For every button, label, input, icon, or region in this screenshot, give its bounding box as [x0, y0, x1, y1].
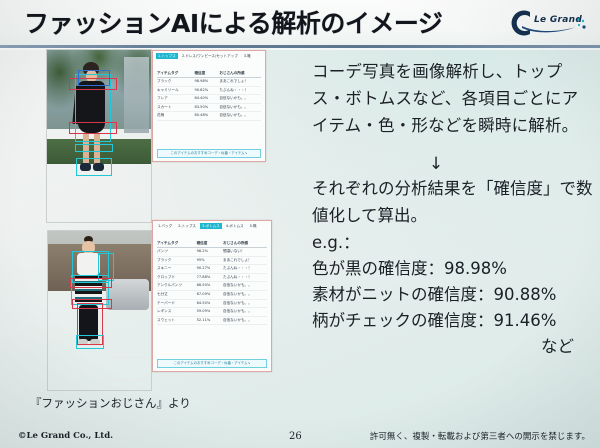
example-line-pattern: 柄がチェックの確信度：91.46% — [312, 308, 598, 334]
col-item-tag: アイテムタグ — [157, 241, 197, 246]
tab-2-dress[interactable]: 2.ドレス/ワンピース/セットアップ — [180, 53, 240, 59]
cell-item-tag: スカート — [157, 104, 194, 112]
panel-top-tabs[interactable]: 1.トップス 2.ドレス/ワンピース/セットアップ 3.靴 — [156, 53, 262, 59]
table-header-row: アイテムタグ 確信度 おじさんの所感 — [157, 241, 267, 248]
explanation-paragraph-2-text: それぞれの分析結果を「確信度」で数値化して算出。 — [312, 175, 594, 229]
table-row: スキニー 90.27% たぶんね・・・！ — [157, 265, 267, 274]
le-grand-logo: Le Grand — [500, 6, 592, 40]
example-line-material: 素材がニットの確信度：90.88% — [312, 282, 598, 308]
down-arrow-icon: ↓ — [278, 153, 594, 175]
cell-item-tag: スウェット — [157, 317, 197, 325]
detection-box-shoes — [76, 335, 104, 349]
panel-bottom-table: アイテムタグ 確信度 おじさんの所感 パンツ 98.2% 間違いない！ ブラック… — [157, 241, 267, 325]
tab-3-shoes[interactable]: 3.靴 — [242, 53, 253, 59]
cell-confidence: 52.11% — [197, 317, 223, 325]
cell-impression: まあこれでしょ！ — [223, 257, 267, 265]
slide-footer: ©Le Grand Co., Ltd. 26 許可無く、複製・転載および第三者へ… — [0, 418, 600, 448]
table-row: レギンス 59.09% 自信ないかも。。 — [157, 308, 267, 317]
cell-impression: 自信ないかも。。 — [219, 112, 261, 120]
table-row: キャミソール 90.82% たぶんね・・・！ — [157, 87, 261, 96]
cell-impression: 自信ないかも。。 — [223, 300, 267, 308]
cell-item-tag: ブラック — [157, 78, 194, 86]
cell-confidence: 98.2% — [197, 248, 223, 256]
col-impression: おじさんの所感 — [223, 241, 267, 246]
tab-2-tops[interactable]: 2.トップス — [176, 223, 198, 229]
example-line-color: 色が黒の確信度：98.98% — [312, 256, 598, 282]
cell-confidence: 98.98% — [194, 78, 219, 86]
cell-item-tag: 七分丈 — [157, 291, 197, 299]
cell-item-tag: クロップド — [157, 274, 197, 282]
table-row: ブラック 95% まあこれでしょ！ — [157, 257, 267, 266]
tab-1-tops[interactable]: 1.トップス — [156, 53, 178, 59]
slide: ファッションAIによる解析のイメージ Le Grand — [0, 0, 600, 448]
panel-bottom-tabs[interactable]: 1.バッグ 2.トップス 3.ボトムス 4.ボトムス 5.靴 — [156, 223, 268, 229]
photo-building — [124, 57, 149, 133]
page-title: ファッションAIによる解析のイメージ — [24, 4, 442, 40]
explanation-paragraph-2: ↓ それぞれの分析結果を「確信度」で数値化して算出。 — [312, 152, 594, 229]
cell-item-tag: レギンス — [157, 308, 197, 316]
tab-3-bottoms[interactable]: 3.ボトムス — [200, 223, 222, 229]
cell-confidence: 90.82% — [194, 87, 219, 95]
col-impression: おじさんの所感 — [219, 71, 261, 76]
col-confidence: 確信度 — [197, 241, 223, 246]
tab-1-bag[interactable]: 1.バッグ — [156, 223, 174, 229]
logo-wordmark: Le Grand — [534, 15, 582, 25]
slide-header: ファッションAIによる解析のイメージ Le Grand — [0, 0, 600, 45]
table-row: 花柄 80.48% 自信ないかも。。 — [157, 112, 261, 121]
cell-item-tag: キャミソール — [157, 87, 194, 95]
cell-confidence: 77.88% — [197, 274, 223, 282]
cell-confidence: 64.50% — [197, 300, 223, 308]
example-suffix: など — [312, 334, 598, 360]
cell-item-tag: フレア — [157, 95, 194, 103]
table-row: ブラック 98.98% まあこれでしょ！ — [157, 78, 261, 87]
cell-impression: 自信ないかも。。 — [223, 282, 267, 290]
detection-box-hem — [69, 122, 117, 134]
detection-box-waist — [70, 278, 112, 288]
table-row: 七分丈 67.09% 自信ないかも。。 — [157, 291, 267, 300]
panel-bottom-recommend-link[interactable]: このアイテムのおすすめコーデ・似番・アイテム↘ — [157, 359, 267, 368]
table-row: アンクルパンツ 68.50% 自信ないかも。。 — [157, 282, 267, 291]
cell-confidence: 80.48% — [194, 112, 219, 120]
cell-impression: まあこれでしょ！ — [219, 78, 261, 86]
table-row: スカート 83.50% 自信ないかも。。 — [157, 104, 261, 113]
cell-impression: 間違いない！ — [223, 248, 267, 256]
cell-confidence: 84.40% — [194, 95, 219, 103]
analysis-photo-bottom — [47, 230, 152, 391]
photo-car — [106, 279, 149, 311]
detection-box-legs — [75, 144, 113, 152]
cell-item-tag: アンクルパンツ — [157, 282, 197, 290]
cell-confidence: 67.09% — [197, 291, 223, 299]
cell-confidence: 68.50% — [197, 282, 223, 290]
cell-confidence: 95% — [197, 257, 223, 265]
result-panel-bottom[interactable]: 1.バッグ 2.トップス 3.ボトムス 4.ボトムス 5.靴 アイテムタグ 確信… — [152, 220, 272, 372]
cell-impression: 自信ないかも。。 — [219, 95, 261, 103]
table-row: スウェット 52.11% 自信ないかも。。 — [157, 317, 267, 326]
cell-item-tag: ブラック — [157, 257, 197, 265]
cell-item-tag: パンツ — [157, 248, 197, 256]
tab-5-shoes[interactable]: 5.靴 — [248, 223, 259, 229]
cell-impression: たぶんね・・・！ — [223, 265, 267, 273]
table-row: パンツ 98.2% 間違いない！ — [157, 248, 267, 257]
col-confidence: 確信度 — [194, 71, 219, 76]
example-label: e.g.： — [312, 230, 598, 256]
photo-parking-line — [112, 357, 149, 358]
cell-confidence: 90.27% — [197, 265, 223, 273]
cell-impression: たぶんね・・・！ — [219, 87, 261, 95]
cell-item-tag: 花柄 — [157, 112, 194, 120]
col-item-tag: アイテムタグ — [157, 71, 194, 76]
cell-impression: 自信ないかも。。 — [223, 317, 267, 325]
cell-impression: 自信ないかも。。 — [219, 104, 261, 112]
photo-parking-line — [106, 379, 147, 380]
table-row: クロップド 77.88% たぶんね・・・！ — [157, 274, 267, 283]
tab-4-bottoms[interactable]: 4.ボトムス — [224, 223, 246, 229]
confidentiality-notice: 許可無く、複製・転載および第三者への開示を禁じます。 — [370, 430, 590, 442]
result-panel-top[interactable]: 1.トップス 2.ドレス/ワンピース/セットアップ 3.靴 アイテムタグ 確信度… — [152, 50, 266, 162]
table-row: フレア 84.40% 自信ないかも。。 — [157, 95, 261, 104]
detection-box-head — [78, 70, 110, 86]
cell-confidence: 59.09% — [197, 308, 223, 316]
example-block: e.g.： 色が黒の確信度：98.98% 素材がニットの確信度：90.88% 柄… — [312, 230, 598, 360]
table-header-row: アイテムタグ 確信度 おじさんの所感 — [157, 71, 261, 78]
explanation-paragraph-1: コーデ写真を画像解析し、トップス・ボトムスなど、各項目ごとにアイテム・色・形など… — [312, 58, 594, 139]
copyright-text: ©Le Grand Co., Ltd. — [18, 431, 113, 441]
table-row: テーパード 64.50% 自信ないかも。。 — [157, 300, 267, 309]
panel-top-table: アイテムタグ 確信度 おじさんの所感 ブラック 98.98% まあこれでしょ！ … — [157, 71, 261, 121]
cell-confidence: 83.50% — [194, 104, 219, 112]
cell-item-tag: スキニー — [157, 265, 197, 273]
detection-box-shoes — [76, 158, 112, 176]
cell-impression: 自信ないかも。。 — [223, 291, 267, 299]
page-number: 26 — [289, 431, 302, 442]
analysis-photo-top — [46, 49, 152, 223]
cell-item-tag: テーパード — [157, 300, 197, 308]
panel-top-recommend-link[interactable]: このアイテムのおすすめコーデ・似番・アイテム↘ — [157, 149, 261, 158]
source-caption: 『ファッションおじさん』より — [30, 395, 191, 411]
cell-impression: たぶんね・・・！ — [223, 274, 267, 282]
cell-impression: 自信ないかも。。 — [223, 308, 267, 316]
